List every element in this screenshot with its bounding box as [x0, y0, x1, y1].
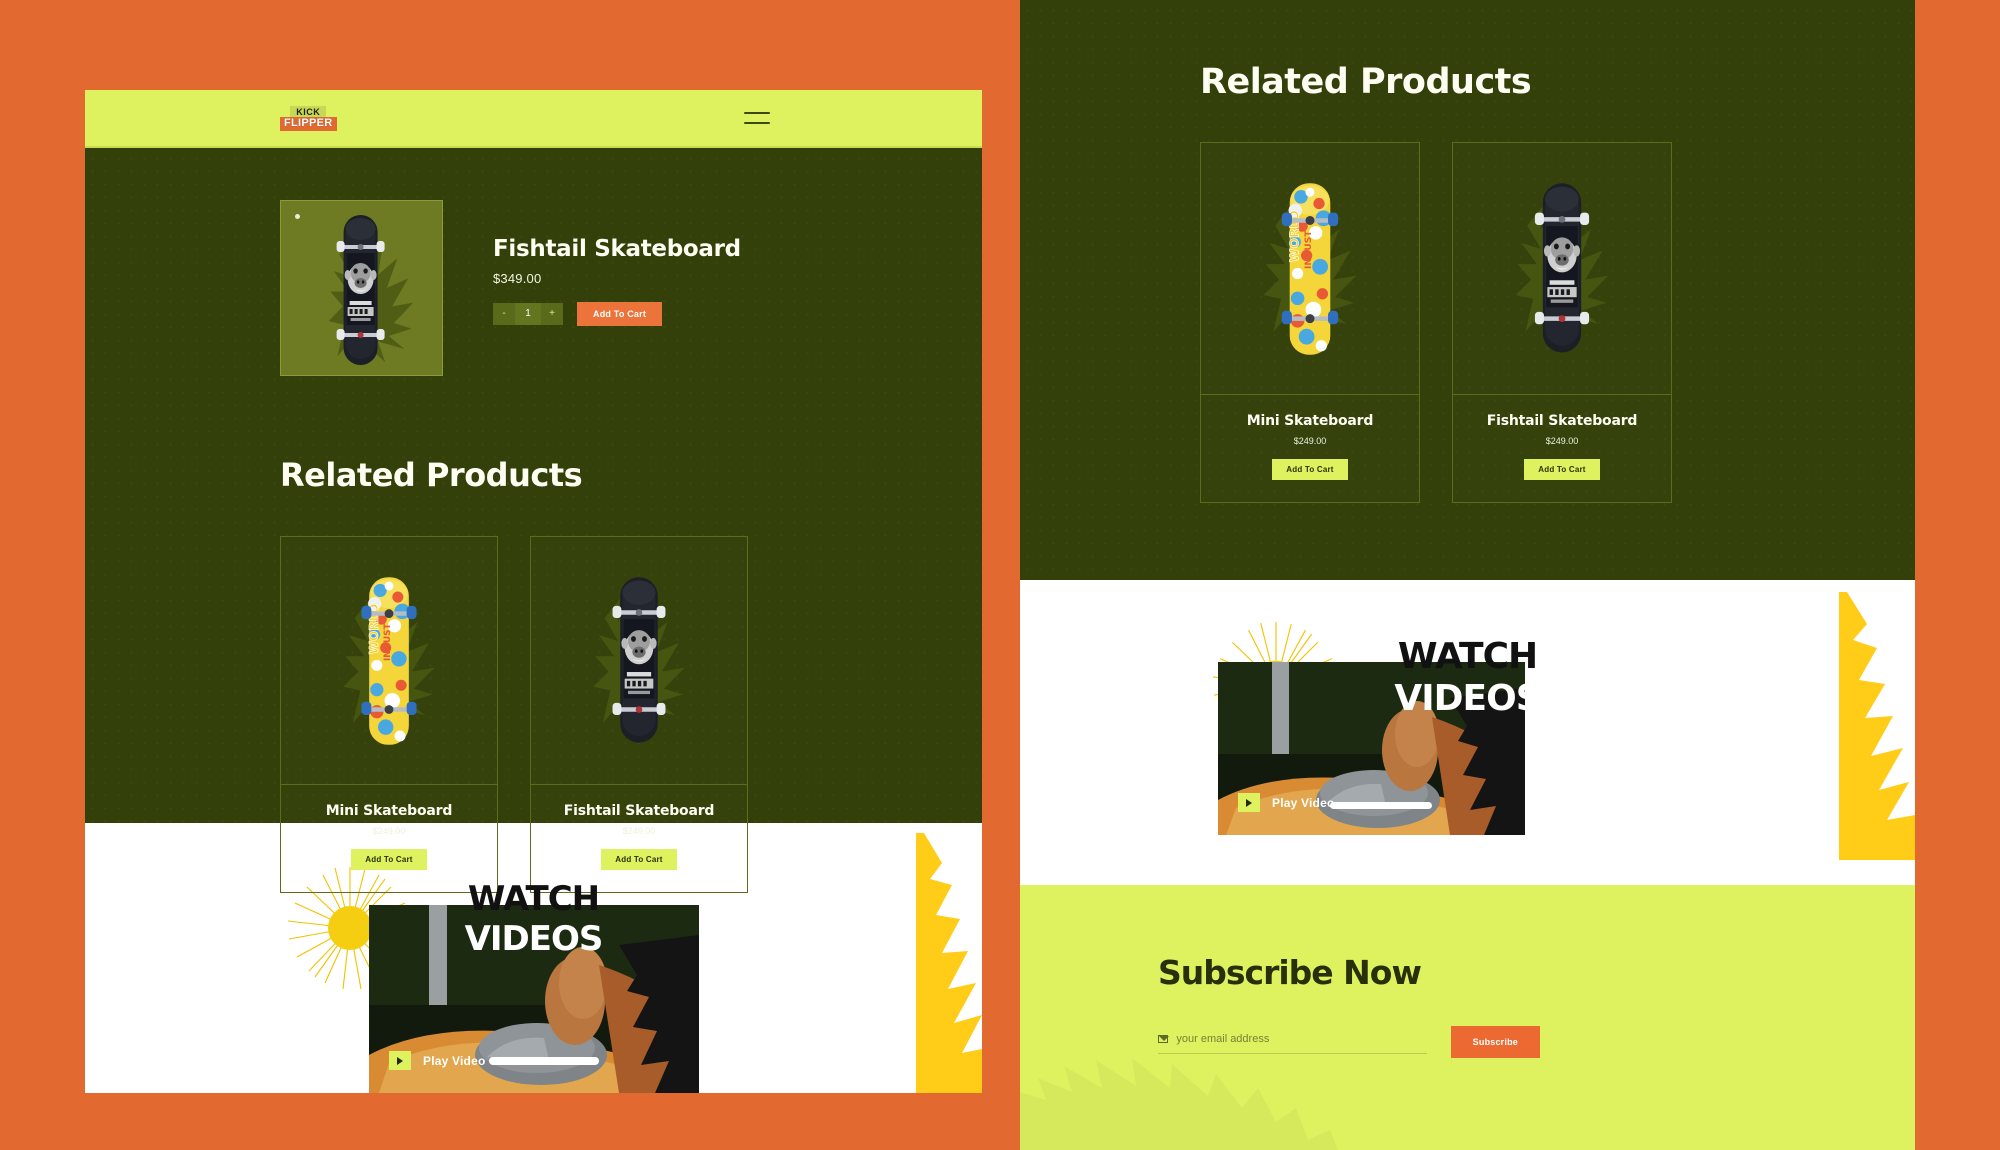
- related-products-grid: Mini Skateboard $249.00 Add To Cart Fish…: [85, 494, 982, 893]
- product-card[interactable]: Mini Skateboard $249.00 Add To Cart: [1200, 142, 1420, 503]
- play-video-label: Play Video: [423, 1054, 485, 1068]
- logo-flipper-text: FLIPPER: [280, 117, 337, 131]
- video-title-line1: WATCH: [85, 879, 982, 919]
- video-title-line2: VIDEOS: [1020, 678, 1915, 719]
- product-card-price: $249.00: [1463, 436, 1661, 446]
- product-card[interactable]: Fishtail Skateboard $249.00 Add To Cart: [530, 536, 748, 893]
- product-card[interactable]: Mini Skateboard $249.00 Add To Cart: [280, 536, 498, 893]
- watch-videos-section: WATCH VIDEOS Play Video: [1020, 580, 1915, 885]
- related-products-heading: Related Products: [85, 376, 982, 494]
- product-card-title: Mini Skateboard: [291, 803, 487, 819]
- related-products-grid: Mini Skateboard $249.00 Add To Cart Fish…: [1020, 102, 1915, 503]
- page-preview-right: Related Products Mini Skateboard $249.00…: [1020, 0, 1915, 1150]
- buy-row: - 1 + Add To Cart: [493, 302, 741, 326]
- product-info: Fishtail Skateboard $349.00 - 1 + Add To…: [443, 200, 741, 326]
- quantity-decrement-button[interactable]: -: [493, 303, 515, 325]
- envelope-icon: [1158, 1035, 1168, 1043]
- logo[interactable]: KICK FLIPPER: [280, 106, 337, 131]
- quantity-stepper[interactable]: - 1 +: [493, 303, 563, 325]
- product-card-price: $249.00: [1211, 436, 1409, 446]
- product-detail: Fishtail Skateboard $349.00 - 1 + Add To…: [85, 148, 982, 376]
- gallery-indicator-dot: [295, 214, 300, 219]
- add-to-cart-button[interactable]: Add To Cart: [577, 302, 662, 326]
- related-products-heading: Related Products: [1020, 0, 1915, 102]
- play-triangle-icon[interactable]: [1238, 793, 1260, 812]
- subscribe-section: Subscribe Now Subscribe: [1020, 885, 1915, 1150]
- subscribe-heading: Subscribe Now: [1020, 885, 1915, 992]
- add-to-cart-button[interactable]: Add To Cart: [1524, 459, 1599, 480]
- product-card-title: Fishtail Skateboard: [541, 803, 737, 819]
- product-card-body: Mini Skateboard $249.00 Add To Cart: [1201, 395, 1419, 502]
- fishtail-skateboard-image: [1522, 181, 1602, 357]
- page-preview-left: KICK FLIPPER Fishtail Skateboard $349.00: [85, 90, 982, 1150]
- product-card-title: Fishtail Skateboard: [1463, 413, 1661, 429]
- add-to-cart-button[interactable]: Add To Cart: [351, 849, 426, 870]
- yellow-brush-stroke: [1791, 592, 1915, 860]
- add-to-cart-button[interactable]: Add To Cart: [1272, 459, 1347, 480]
- product-card-price: $249.00: [541, 826, 737, 836]
- product-card-thumb: [531, 537, 747, 785]
- product-card-title: Mini Skateboard: [1211, 413, 1409, 429]
- subscribe-button[interactable]: Subscribe: [1451, 1026, 1540, 1058]
- product-main-image: [325, 213, 395, 369]
- mini-skateboard-image: [1270, 181, 1350, 357]
- play-triangle-icon[interactable]: [389, 1051, 411, 1070]
- product-gallery[interactable]: [280, 200, 443, 376]
- product-card-body: Fishtail Skateboard $249.00 Add To Cart: [531, 785, 747, 892]
- product-card-body: Fishtail Skateboard $249.00 Add To Cart: [1453, 395, 1671, 502]
- product-title: Fishtail Skateboard: [493, 236, 741, 262]
- quantity-increment-button[interactable]: +: [541, 303, 563, 325]
- email-field-wrapper[interactable]: [1158, 1033, 1427, 1054]
- product-card-thumb: [1453, 143, 1671, 395]
- related-products-section: Related Products Mini Skateboard $249.00…: [1020, 0, 1915, 580]
- play-video-control[interactable]: Play Video: [389, 1051, 485, 1070]
- quantity-value: 1: [515, 303, 541, 325]
- product-card-thumb: [1201, 143, 1419, 395]
- email-input[interactable]: [1176, 1033, 1426, 1045]
- video-title-line2: VIDEOS: [85, 919, 982, 959]
- add-to-cart-button[interactable]: Add To Cart: [601, 849, 676, 870]
- hamburger-icon[interactable]: [744, 112, 770, 124]
- product-price: $349.00: [493, 271, 741, 286]
- fishtail-skateboard-image: [600, 575, 678, 747]
- subscribe-form: Subscribe: [1020, 992, 1540, 1060]
- shop-body-left: Fishtail Skateboard $349.00 - 1 + Add To…: [85, 148, 982, 823]
- play-video-label: Play Video: [1272, 796, 1334, 810]
- product-card-thumb: [281, 537, 497, 785]
- product-card-price: $249.00: [291, 826, 487, 836]
- play-video-control[interactable]: Play Video: [1238, 793, 1334, 812]
- product-card[interactable]: Fishtail Skateboard $249.00 Add To Cart: [1452, 142, 1672, 503]
- product-card-body: Mini Skateboard $249.00 Add To Cart: [281, 785, 497, 892]
- site-header: KICK FLIPPER: [85, 90, 982, 148]
- mini-skateboard-image: [350, 575, 428, 747]
- video-title-line1: WATCH: [1020, 636, 1915, 677]
